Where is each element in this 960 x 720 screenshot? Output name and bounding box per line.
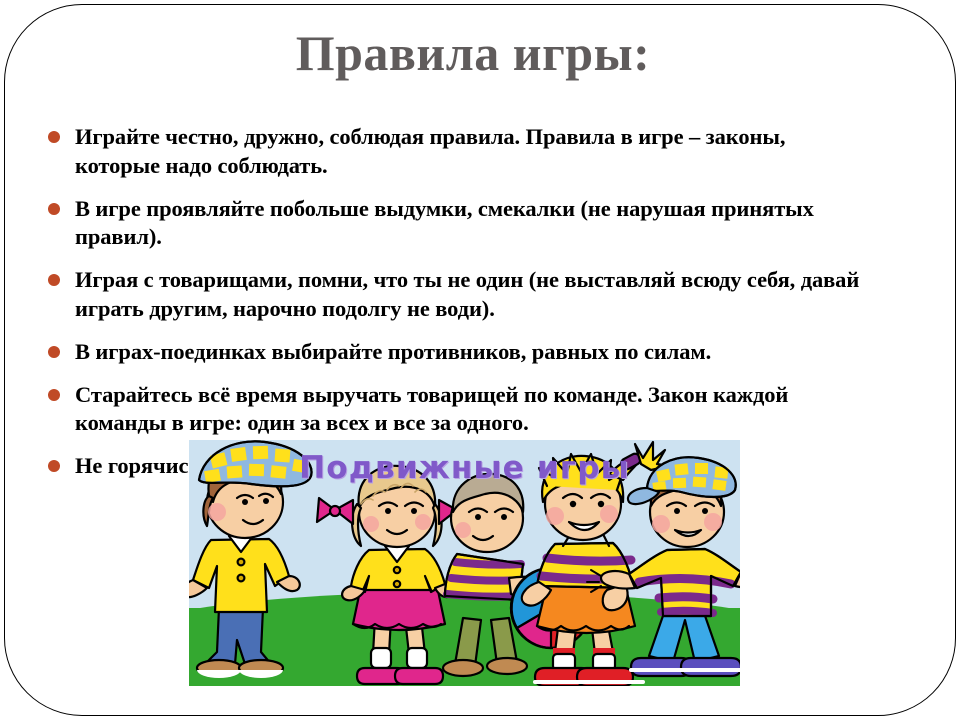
bullet-icon xyxy=(48,346,60,358)
bullet-icon xyxy=(48,131,60,143)
bullet-icon xyxy=(48,460,60,472)
bullet-icon xyxy=(48,274,60,286)
bullet-icon xyxy=(48,389,60,401)
illustration-caption: Подвижные игры xyxy=(189,450,740,486)
list-item: В играх-поединках выбирайте противников,… xyxy=(41,338,865,367)
rule-text: Играйте честно, дружно, соблюдая правила… xyxy=(75,124,785,178)
rule-text: Играя с товарищами, помни, что ты не оди… xyxy=(75,267,859,321)
slide-frame: Правила игры: Играйте честно, дружно, со… xyxy=(4,4,956,716)
rule-text: Старайтесь всё время выручать товарищей … xyxy=(75,382,788,436)
list-item: В игре проявляйте побольше выдумки, смек… xyxy=(41,195,865,253)
rule-text: В игре проявляйте побольше выдумки, смек… xyxy=(75,196,814,250)
list-item: Старайтесь всё время выручать товарищей … xyxy=(41,381,865,439)
page-title: Правила игры: xyxy=(5,27,955,80)
rule-text: В играх-поединках выбирайте противников,… xyxy=(75,339,711,364)
list-item: Играйте честно, дружно, соблюдая правила… xyxy=(41,123,865,181)
children-playing-illustration: Подвижные игры xyxy=(189,440,740,686)
bullet-icon xyxy=(48,203,60,215)
list-item: Играя с товарищами, помни, что ты не оди… xyxy=(41,266,865,324)
hair-bow-left xyxy=(317,498,353,524)
